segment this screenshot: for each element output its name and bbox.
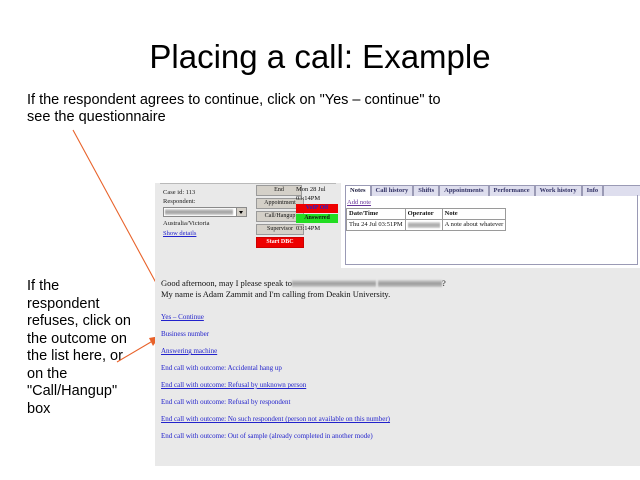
redacted-operator-name [408,222,440,228]
case-id-label: Case id: 113 [163,189,195,198]
script-line1-before: Good afternoon, may I please speak to [161,278,292,288]
cell-operator [405,220,442,231]
cell-datetime: Thu 24 Jul 03:51PM [347,220,406,231]
notes-table: Date/Time Operator Note Thu 24 Jul 03:51… [346,208,506,231]
outcome-yes-continue[interactable]: Yes – Continue [161,313,561,321]
slide-canvas: Placing a call: Example If the responden… [0,0,640,480]
column-operator: Operator [405,209,442,220]
table-row[interactable]: Thu 24 Jul 03:51PM A note about whatever [347,220,506,231]
outcome-accidental-hang-up[interactable]: End call with outcome: Accidental hang u… [161,364,561,372]
outcome-business-number[interactable]: Business number [161,330,561,338]
redacted-respondent-name-script [292,280,376,287]
cell-note: A note about whatever [442,220,506,231]
redacted-respondent-surname-script [378,280,442,287]
start-dbc-button[interactable]: Start DBC [256,237,304,248]
outcome-out-of-sample[interactable]: End call with outcome: Out of sample (al… [161,432,561,440]
respondent-label: Respondent: [163,198,196,207]
geography-label: Australia/Victoria [163,220,210,229]
column-datetime: Date/Time [347,209,406,220]
redacted-respondent-name [165,209,233,215]
status-date: Mon 28 Jul [296,185,342,194]
status-time-top: 03:14PM [296,194,342,203]
annotation-top-text: If the respondent agrees to continue, cl… [27,92,457,126]
panel-divider [160,183,336,184]
outcome-refusal-by-respondent[interactable]: End call with outcome: Refusal by respon… [161,398,561,406]
respondent-select[interactable] [163,207,247,217]
notes-panel: NotesCall historyShiftsAppointmentsPerfo… [341,183,640,268]
page-title: Placing a call: Example [0,38,640,76]
outcome-no-such-respondent[interactable]: End call with outcome: No such responden… [161,415,561,423]
table-header-row: Date/Time Operator Note [347,209,506,220]
call-status-column: Mon 28 Jul 03:14PM VoIP Off Answered 03:… [296,185,342,233]
column-note: Note [442,209,506,220]
script-line1-after: ? [442,278,446,288]
voip-status-badge: VoIP Off [296,204,338,213]
chevron-down-icon[interactable] [236,208,246,216]
show-details-link[interactable]: Show details [163,230,196,237]
answered-status-badge: Answered [296,214,338,223]
embedded-app-screenshot: Case id: 113 Respondent: Australia/Victo… [155,183,640,466]
call-script: Good afternoon, may I please speak to? M… [161,278,631,300]
annotation-left-text: If the respondent refuses, click on the … [27,278,135,418]
script-line2: My name is Adam Zammit and I'm calling f… [161,289,390,299]
outcome-refusal-unknown-person[interactable]: End call with outcome: Refusal by unknow… [161,381,561,389]
outcome-answering-machine[interactable]: Answering machine [161,347,561,355]
add-note-link[interactable]: Add note [347,199,371,206]
outcome-link-list: Yes – Continue Business number Answering… [161,313,561,449]
status-time-bottom: 03:14PM [296,224,342,233]
